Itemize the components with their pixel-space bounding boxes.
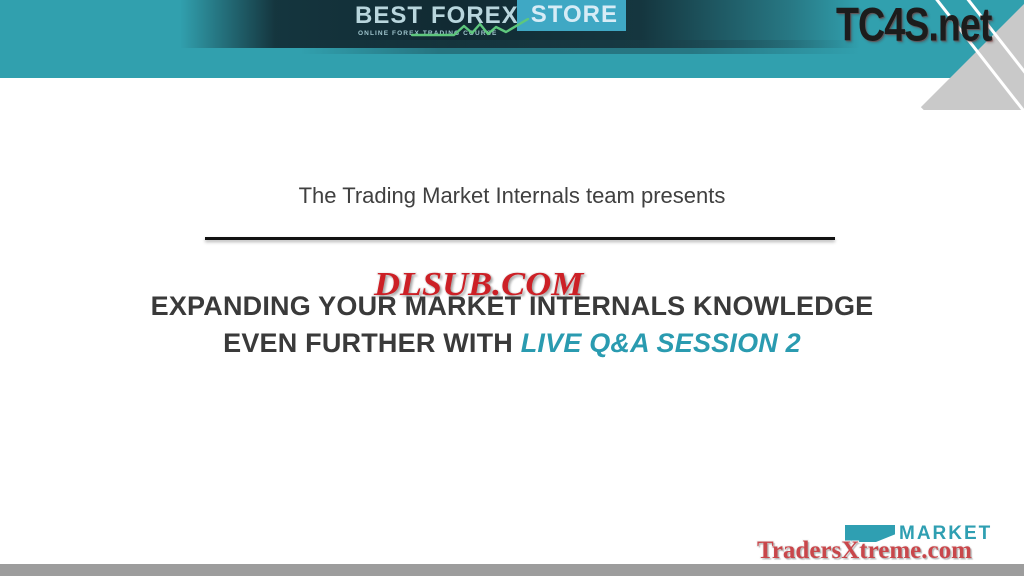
slide-title-line-2: EVEN FURTHER WITH LIVE Q&A SESSION 2 (0, 325, 1024, 362)
best-forex-store-logo: BEST FOREX STORE ONLINE FOREX TRADING CO… (355, 2, 655, 46)
logo-word-best: BEST (355, 2, 423, 30)
logo-word-store: STORE (531, 1, 618, 28)
watermark-tc4s: TC4S.net (836, 0, 991, 52)
watermark-tradersxtreme: TradersXtreme.com (757, 537, 972, 565)
watermark-dlsub: DLSUB.COM (374, 266, 583, 304)
logo-store-box: STORE (517, 0, 626, 31)
bottom-strip (0, 562, 1024, 576)
presentation-slide: BEST FOREX STORE ONLINE FOREX TRADING CO… (0, 0, 1024, 576)
slide-title-line-2-prefix: EVEN FURTHER WITH (223, 328, 521, 358)
logo-wordmark-row: BEST FOREX STORE (355, 2, 655, 29)
logo-word-forex: FOREX (431, 2, 519, 30)
logo-tagline: ONLINE FOREX TRADING COURSE (358, 30, 497, 37)
slide-title-accent: LIVE Q&A SESSION 2 (521, 328, 801, 358)
title-divider (205, 237, 835, 240)
presents-line: The Trading Market Internals team presen… (0, 183, 1024, 209)
